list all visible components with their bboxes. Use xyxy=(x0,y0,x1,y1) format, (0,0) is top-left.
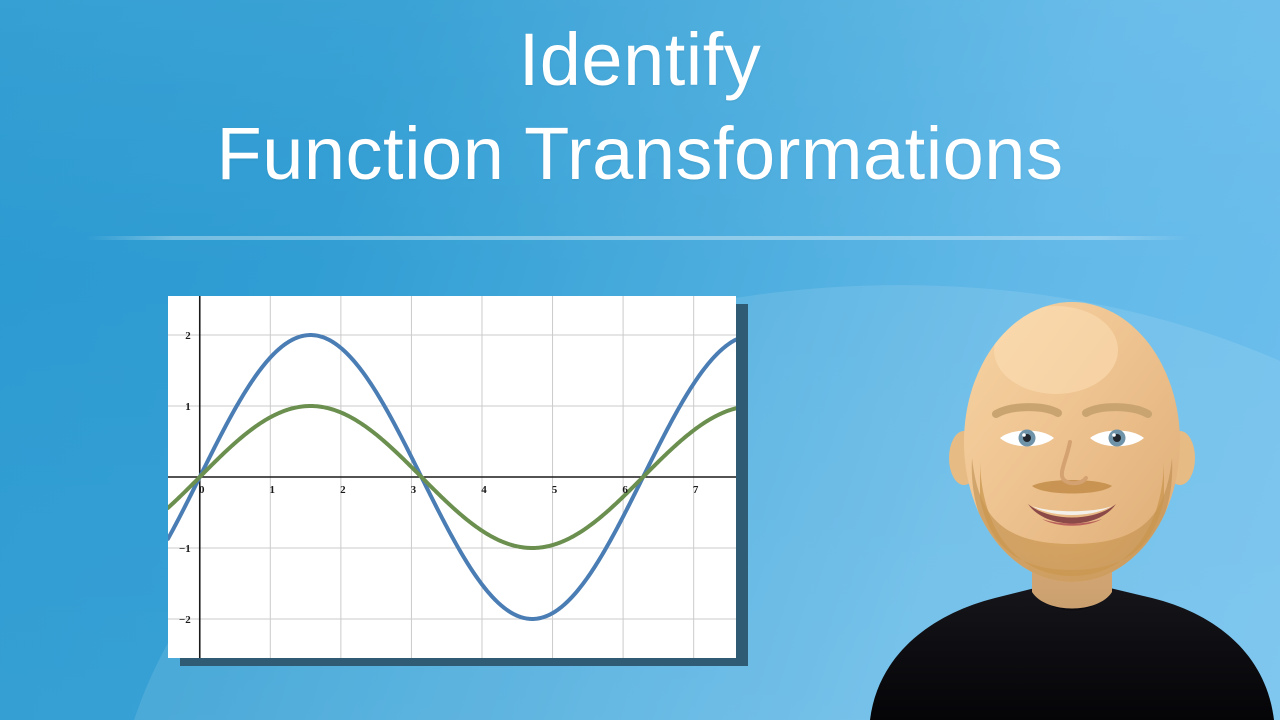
presenter-figure xyxy=(860,262,1280,720)
x-tick-label: 2 xyxy=(340,484,346,496)
slide-canvas: Identify Function Transformations 012345… xyxy=(0,0,1280,720)
x-tick-label: 3 xyxy=(411,484,417,496)
x-tick-label: 6 xyxy=(622,484,628,496)
function-graph-chart: 01234567 21−1−2 xyxy=(168,296,736,658)
y-tick-label: −1 xyxy=(179,543,191,555)
x-tick-label: 1 xyxy=(270,484,276,496)
title-block: Identify Function Transformations xyxy=(0,22,1280,192)
x-tick-label: 4 xyxy=(481,484,487,496)
y-tick-label: 1 xyxy=(185,401,191,413)
x-tick-label: 5 xyxy=(552,484,558,496)
page-title-line-1: Identify xyxy=(0,22,1280,98)
x-tick-label: 7 xyxy=(693,484,699,496)
x-tick-label: 0 xyxy=(199,484,205,496)
title-divider xyxy=(86,236,1190,240)
graph-card: 01234567 21−1−2 xyxy=(168,296,736,658)
y-tick-label: 2 xyxy=(185,330,191,342)
y-tick-label: −2 xyxy=(179,614,191,626)
page-title-line-2: Function Transformations xyxy=(0,116,1280,192)
presenter-video-cutout xyxy=(860,262,1280,720)
